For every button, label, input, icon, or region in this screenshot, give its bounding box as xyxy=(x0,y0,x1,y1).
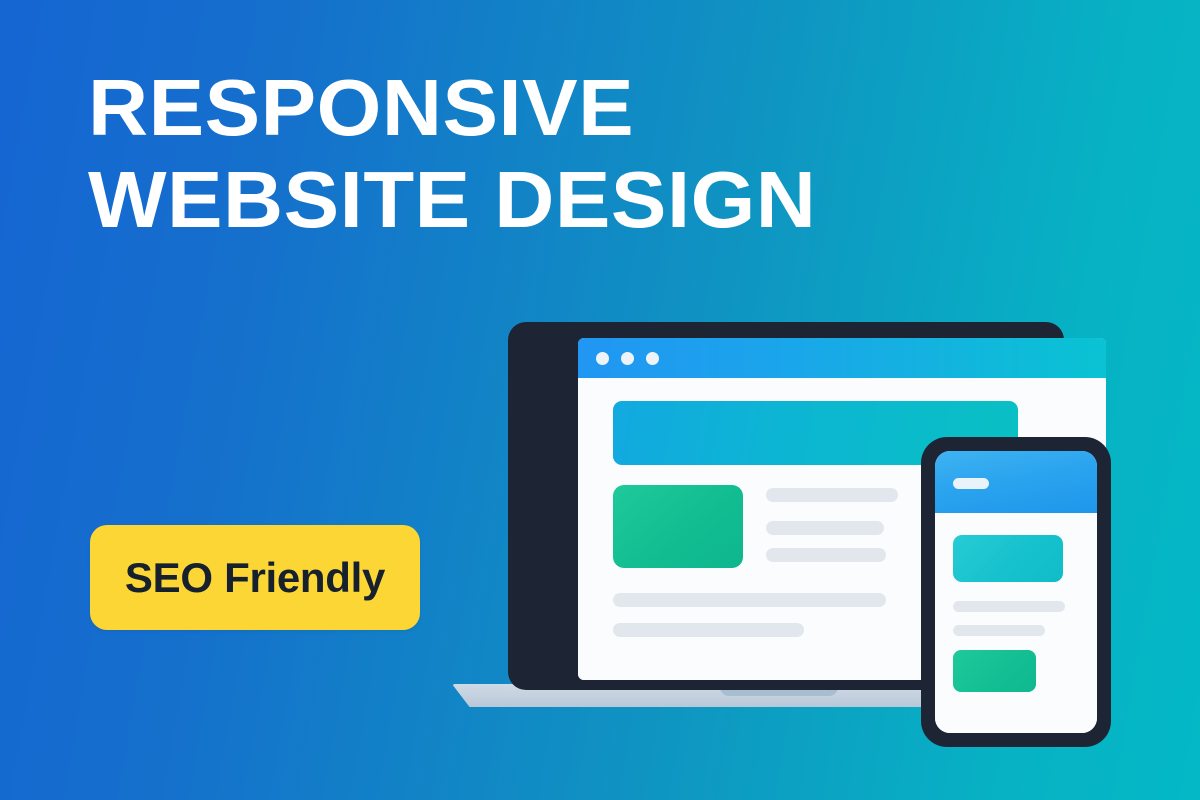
page-title: RESPONSIVE WEBSITE DESIGN xyxy=(88,62,1048,246)
browser-minimize-dot-icon[interactable] xyxy=(621,352,634,365)
placeholder-text-line xyxy=(953,625,1045,636)
phone-frame xyxy=(921,437,1111,747)
phone-menu-pill-icon[interactable] xyxy=(953,478,989,489)
headline-line-1: RESPONSIVE xyxy=(88,62,1086,154)
laptop-mockup xyxy=(452,320,952,705)
seo-friendly-badge-label: SEO Friendly xyxy=(125,554,385,602)
placeholder-text-line xyxy=(766,488,898,502)
browser-maximize-dot-icon[interactable] xyxy=(646,352,659,365)
phone-app-header xyxy=(935,451,1097,513)
headline-line-2: WEBSITE DESIGN xyxy=(88,154,1086,246)
feature-image-block xyxy=(613,485,743,568)
placeholder-text-line xyxy=(953,601,1065,612)
placeholder-text-line xyxy=(766,521,884,535)
promo-banner-canvas: RESPONSIVE WEBSITE DESIGN SEO Friendly xyxy=(0,0,1200,800)
phone-content-area xyxy=(935,513,1097,733)
browser-title-bar xyxy=(578,338,1106,378)
browser-close-dot-icon[interactable] xyxy=(596,352,609,365)
placeholder-text-line xyxy=(766,548,886,562)
phone-screen xyxy=(935,451,1097,733)
phone-hero-block xyxy=(953,535,1063,582)
phone-feature-block xyxy=(953,650,1036,692)
seo-friendly-badge[interactable]: SEO Friendly xyxy=(90,525,420,630)
placeholder-text-line xyxy=(613,593,886,607)
phone-mockup xyxy=(921,437,1111,747)
placeholder-text-line xyxy=(613,623,804,637)
